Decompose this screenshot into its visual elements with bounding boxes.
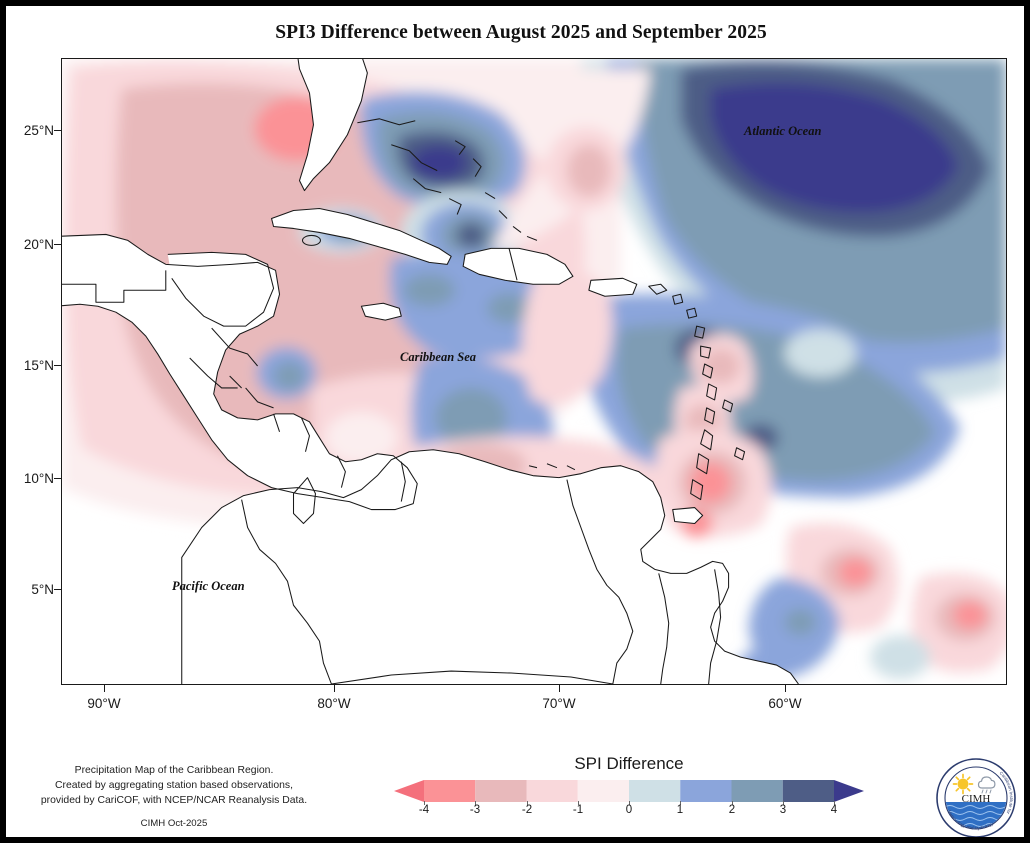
- spi-difference-map-figure: SPI3 Difference between August 2025 and …: [0, 0, 1030, 843]
- credit-line-3: provided by CariCOF, with NCEP/NCAR Rean…: [24, 793, 324, 808]
- x-tick-mark-60w: [785, 685, 786, 692]
- colorbar-title: SPI Difference: [394, 754, 864, 774]
- cb-tick-4: 4: [814, 804, 854, 816]
- y-tick-label-20n: 20°N: [2, 237, 54, 252]
- cimh-date-stamp: CIMH Oct-2025: [24, 818, 324, 829]
- x-tick-label-90w: 90°W: [64, 696, 144, 711]
- cb-tick--2: -2: [507, 804, 547, 816]
- credit-text: Precipitation Map of the Caribbean Regio…: [24, 763, 324, 808]
- y-tick-mark-15n: [54, 365, 61, 366]
- y-tick-mark-10n: [54, 478, 61, 479]
- figure-title: SPI3 Difference between August 2025 and …: [6, 22, 1030, 44]
- cb-tick--1: -1: [558, 804, 598, 816]
- y-tick-mark-5n: [54, 589, 61, 590]
- cimh-logo-graphic: CIMH Caribbean Institute for Meteorology…: [935, 757, 1017, 839]
- cimh-logo: CIMH Caribbean Institute for Meteorology…: [935, 757, 1017, 839]
- y-tick-label-15n: 15°N: [2, 358, 54, 373]
- credit-line-2: Created by aggregating station based obs…: [24, 778, 324, 793]
- cb-tick-3: 3: [763, 804, 803, 816]
- atlantic-ocean-label: Atlantic Ocean: [744, 124, 821, 139]
- colorbar: SPI Difference -4 -3: [394, 754, 864, 822]
- y-tick-mark-25n: [54, 130, 61, 131]
- cb-tick--3: -3: [455, 804, 495, 816]
- cb-tick--4: -4: [404, 804, 444, 816]
- caribbean-sea-label: Caribbean Sea: [400, 350, 476, 365]
- pacific-ocean-label: Pacific Ocean: [172, 579, 245, 594]
- y-tick-label-5n: 5°N: [2, 582, 54, 597]
- cb-tick-1: 1: [660, 804, 700, 816]
- credit-line-1: Precipitation Map of the Caribbean Regio…: [24, 763, 324, 778]
- logo-acronym: CIMH: [962, 793, 991, 805]
- y-tick-label-25n: 25°N: [2, 123, 54, 138]
- logo-sun-icon: [954, 775, 973, 794]
- x-tick-label-80w: 80°W: [294, 696, 374, 711]
- x-tick-mark-80w: [334, 685, 335, 692]
- cb-tick-0: 0: [609, 804, 649, 816]
- x-tick-mark-70w: [559, 685, 560, 692]
- colorbar-tick-labels: -4 -3 -2 -1 0 1 2 3 4: [394, 804, 864, 822]
- x-tick-mark-90w: [104, 685, 105, 692]
- x-tick-label-70w: 70°W: [519, 696, 599, 711]
- x-tick-label-60w: 60°W: [745, 696, 825, 711]
- colorbar-swatches: [394, 780, 864, 802]
- y-tick-mark-20n: [54, 244, 61, 245]
- colorbar-gradient[interactable]: [394, 780, 864, 802]
- cb-tick-2: 2: [712, 804, 752, 816]
- y-tick-label-10n: 10°N: [2, 471, 54, 486]
